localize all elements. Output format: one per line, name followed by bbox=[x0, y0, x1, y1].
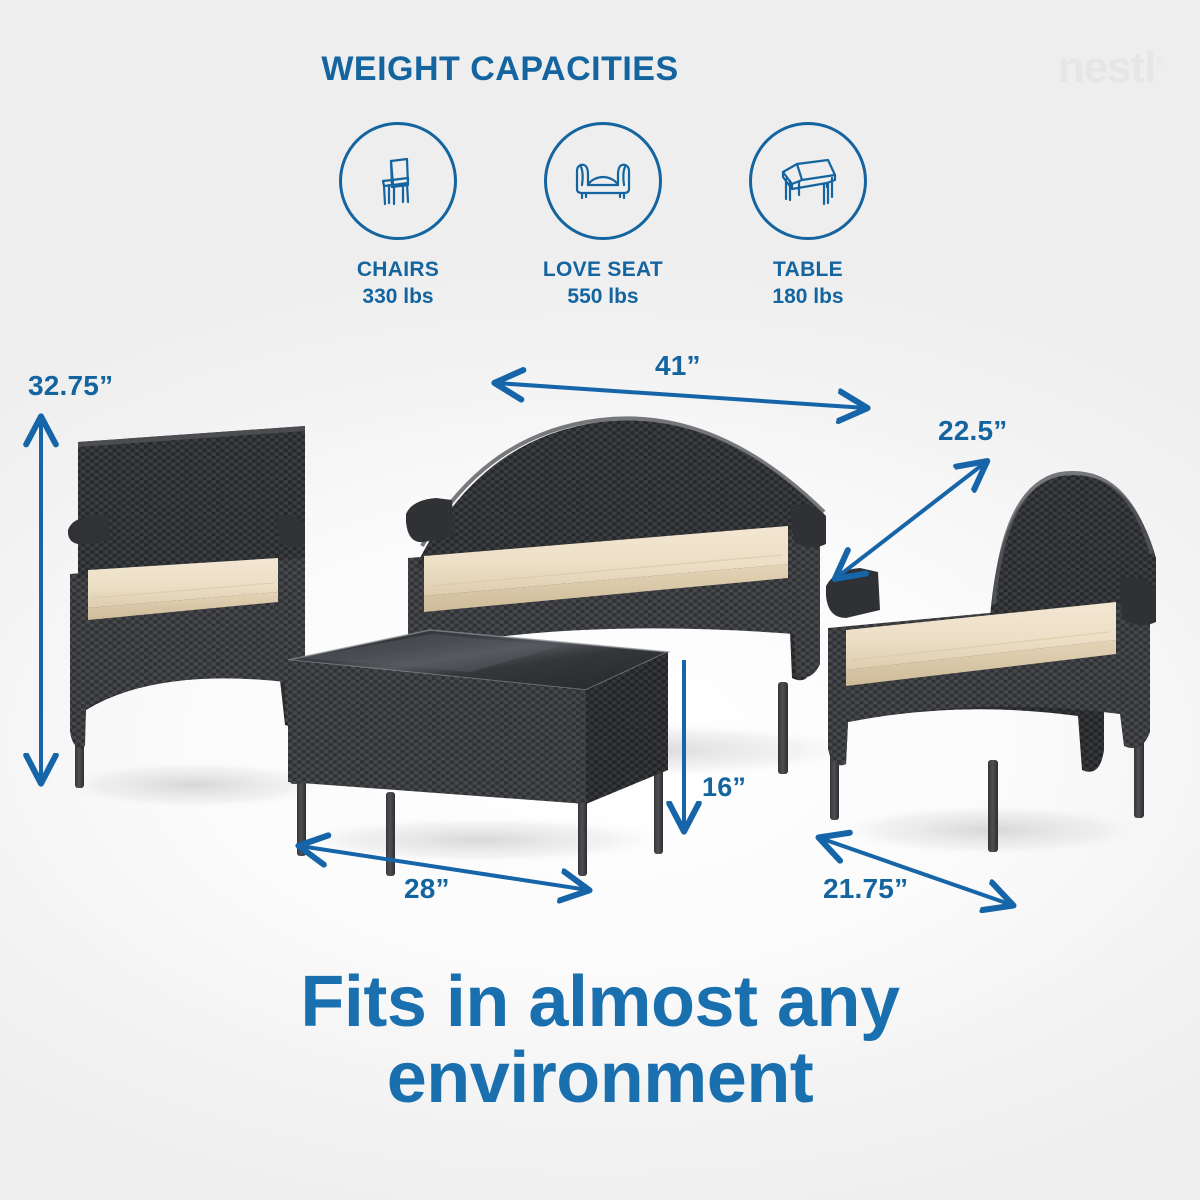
dimension-label-chair-height: 32.75” bbox=[28, 370, 113, 402]
product-scene bbox=[0, 330, 1200, 950]
dimension-label-table-height: 16” bbox=[702, 772, 746, 803]
dimension-label-table-width: 28” bbox=[404, 873, 450, 905]
dimension-label-chair-depth: 21.75” bbox=[823, 873, 908, 905]
table-icon bbox=[775, 152, 841, 210]
love-seat-icon bbox=[569, 151, 637, 211]
capacity-label-table: TABLE bbox=[728, 258, 888, 282]
weight-capacities-row: CHAIRS 330 lbs LOVE bbox=[318, 122, 888, 309]
chair-icon-circle bbox=[339, 122, 457, 240]
registered-trademark-icon: ® bbox=[1155, 54, 1164, 69]
love-seat-icon-circle bbox=[544, 122, 662, 240]
product-infographic: nestl® WEIGHT CAPACITIES bbox=[0, 0, 1200, 1200]
chair-icon bbox=[367, 150, 429, 212]
capacity-item-chairs: CHAIRS 330 lbs bbox=[318, 122, 478, 309]
capacity-value-love-seat: 550 lbs bbox=[523, 285, 683, 309]
capacity-item-love-seat: LOVE SEAT 550 lbs bbox=[523, 122, 683, 309]
dimension-label-loveseat-width: 41” bbox=[655, 350, 701, 382]
capacity-label-chairs: CHAIRS bbox=[318, 258, 478, 282]
weight-capacities-title: WEIGHT CAPACITIES bbox=[0, 50, 1100, 89]
table-icon-circle bbox=[749, 122, 867, 240]
capacity-item-table: TABLE 180 lbs bbox=[728, 122, 888, 309]
right-chair bbox=[826, 473, 1156, 852]
left-chair bbox=[68, 426, 305, 788]
capacity-label-love-seat: LOVE SEAT bbox=[523, 258, 683, 282]
capacity-value-chairs: 330 lbs bbox=[318, 285, 478, 309]
tagline-line-1: Fits in almost any bbox=[0, 965, 1200, 1041]
tagline-line-2: environment bbox=[0, 1041, 1200, 1117]
dimension-label-loveseat-depth: 22.5” bbox=[938, 415, 1008, 447]
capacity-value-table: 180 lbs bbox=[728, 285, 888, 309]
tagline: Fits in almost any environment bbox=[0, 965, 1200, 1116]
